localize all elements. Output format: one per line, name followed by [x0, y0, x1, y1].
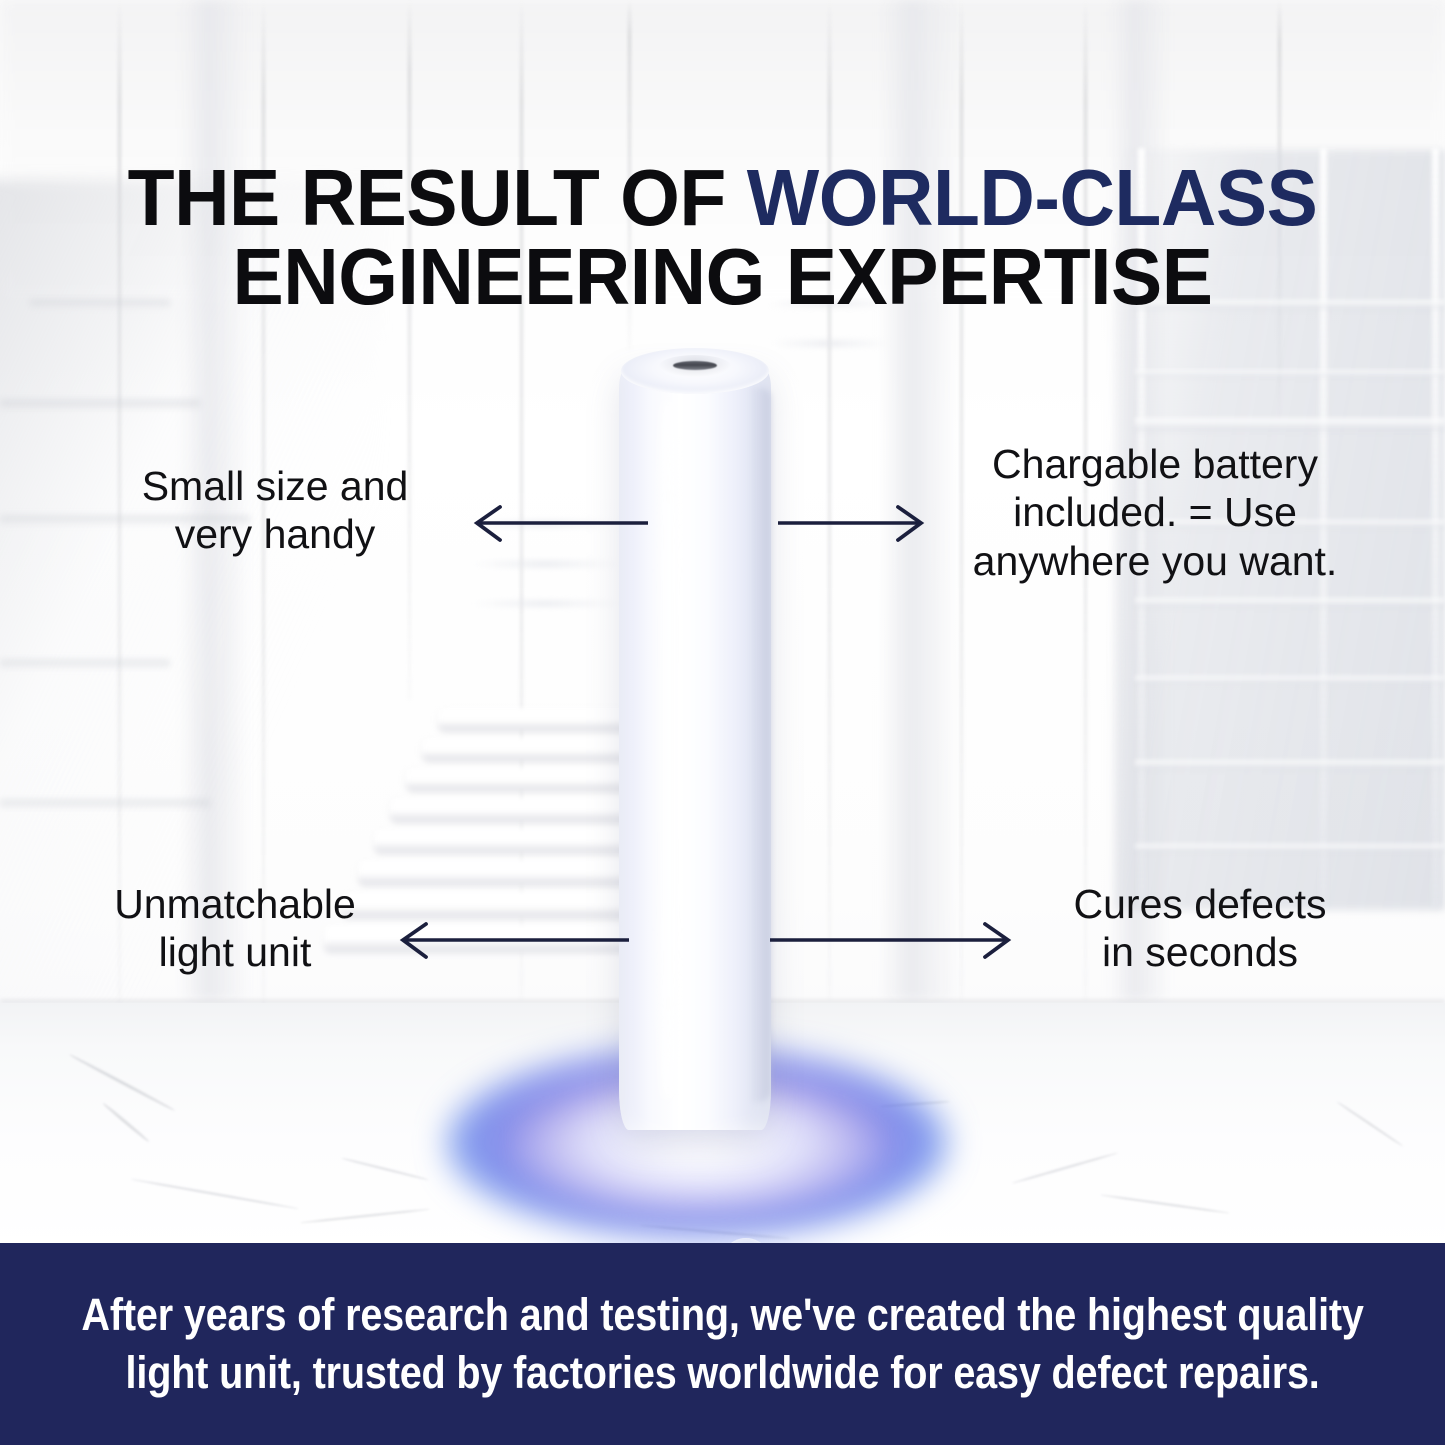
callout-line: light unit [40, 928, 430, 976]
headline-part-accent: WORLD-CLASS [747, 153, 1318, 242]
product-infographic-poster: THE RESULT OF WORLD-CLASS ENGINEERING EX… [0, 0, 1445, 1445]
left-shelf [0, 400, 200, 410]
callout-line: very handy [60, 510, 490, 558]
callout-small-size: Small size and very handy [60, 462, 490, 559]
headline-line-2: ENGINEERING EXPERTISE [29, 237, 1416, 316]
glass-shelf [1135, 676, 1445, 684]
banner-line-2: light unit, trusted by factories worldwi… [81, 1344, 1363, 1403]
glass-shelf [1135, 418, 1445, 431]
left-shelf [0, 800, 210, 809]
device-highlight [653, 400, 683, 1100]
device-shadow-edge [749, 388, 771, 1102]
callout-unmatchable-light-unit: Unmatchable light unit [40, 880, 430, 977]
callout-line: Small size and [60, 462, 490, 510]
callout-line: Unmatchable [40, 880, 430, 928]
product-image [619, 348, 771, 1130]
callout-line: anywhere you want. [920, 537, 1390, 585]
light-slit [470, 600, 620, 607]
arrow-left-bottom [396, 922, 631, 968]
glass-shelf [1135, 370, 1445, 377]
light-slit [470, 560, 620, 568]
glass-mullion [1432, 148, 1439, 908]
callout-chargable-battery: Chargable battery included. = Use anywhe… [920, 440, 1390, 585]
device-aperture-icon [673, 361, 717, 370]
bottom-banner: After years of research and testing, we'… [0, 1243, 1445, 1445]
arrow-right-top [778, 505, 928, 551]
callout-cures-defects: Cures defects in seconds [1000, 880, 1400, 977]
glass-shelf [1135, 760, 1445, 769]
callout-line: Chargable battery [920, 440, 1390, 488]
glass-shelf [1135, 598, 1445, 607]
headline-part-plain: THE RESULT OF [128, 153, 747, 242]
glass-shelf [1135, 844, 1445, 852]
wall-panel-seam [828, 0, 831, 1000]
callout-line: included. = Use [920, 488, 1390, 536]
left-shelf [0, 660, 170, 669]
light-slit [770, 340, 890, 347]
headline-line-1: THE RESULT OF WORLD-CLASS [29, 158, 1416, 237]
arrow-left-top [470, 505, 650, 551]
arrow-right-bottom [770, 922, 1015, 968]
callout-line: Cures defects [1000, 880, 1400, 928]
banner-line-1: After years of research and testing, we'… [81, 1286, 1363, 1345]
page-title: THE RESULT OF WORLD-CLASS ENGINEERING EX… [29, 158, 1416, 316]
banner-text: After years of research and testing, we'… [81, 1286, 1363, 1403]
wall-panel-seam [408, 0, 411, 700]
callout-line: in seconds [1000, 928, 1400, 976]
